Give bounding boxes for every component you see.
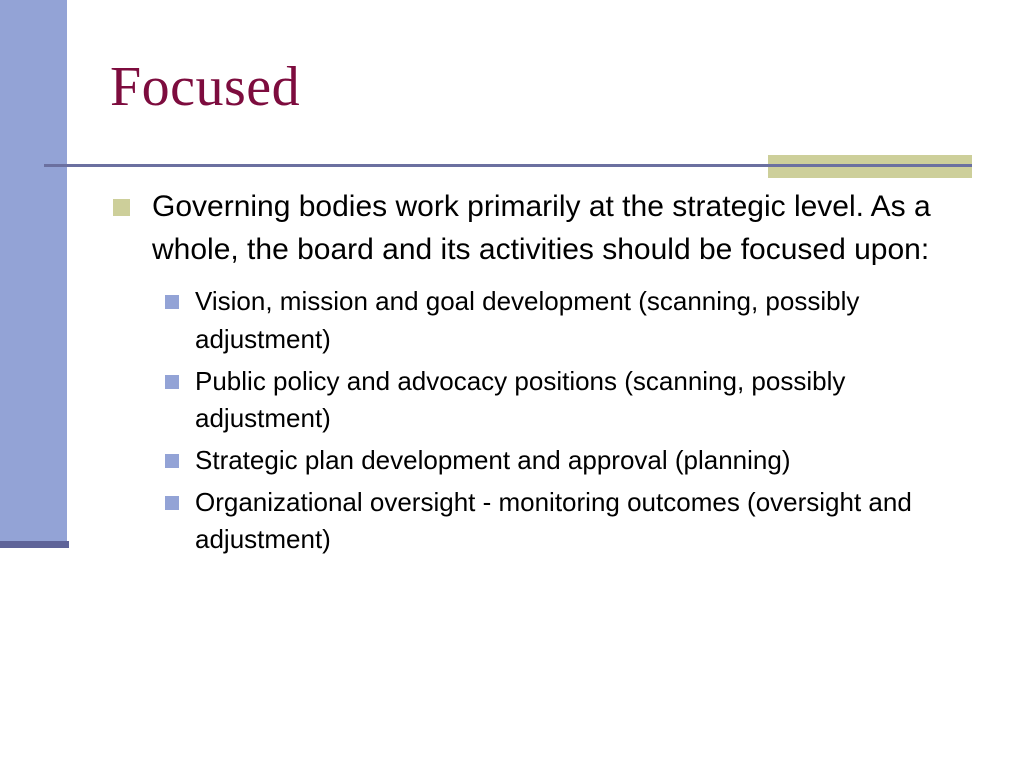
bullet-level1-text: Governing bodies work primarily at the s… bbox=[152, 190, 931, 266]
bullet-level2-text: Organizational oversight - monitoring ou… bbox=[195, 487, 912, 555]
accent-divider-overlay bbox=[768, 164, 972, 167]
bullet-level2-text: Public policy and advocacy positions (sc… bbox=[195, 366, 845, 434]
bullet-level2-text: Strategic plan development and approval … bbox=[195, 445, 791, 475]
left-sidebar-band-footer bbox=[0, 541, 69, 548]
square-bullet-icon bbox=[165, 375, 179, 389]
bullet-level2-text: Vision, mission and goal development (sc… bbox=[195, 286, 859, 354]
bullet-level1-intro: Governing bodies work primarily at the s… bbox=[110, 186, 980, 271]
left-sidebar-band bbox=[0, 0, 67, 541]
list-item: Strategic plan development and approval … bbox=[163, 442, 935, 480]
square-bullet-icon bbox=[165, 295, 179, 309]
list-item: Vision, mission and goal development (sc… bbox=[163, 283, 935, 358]
slide-body: Governing bodies work primarily at the s… bbox=[110, 186, 990, 563]
list-item: Organizational oversight - monitoring ou… bbox=[163, 484, 935, 559]
square-bullet-icon bbox=[165, 496, 179, 510]
page-title: Focused bbox=[110, 58, 300, 117]
sub-bullet-list: Vision, mission and goal development (sc… bbox=[110, 283, 990, 559]
presentation-slide: Focused Governing bodies work primarily … bbox=[0, 0, 1024, 768]
square-bullet-icon bbox=[165, 454, 179, 468]
list-item: Public policy and advocacy positions (sc… bbox=[163, 363, 935, 438]
square-bullet-icon bbox=[113, 199, 130, 216]
